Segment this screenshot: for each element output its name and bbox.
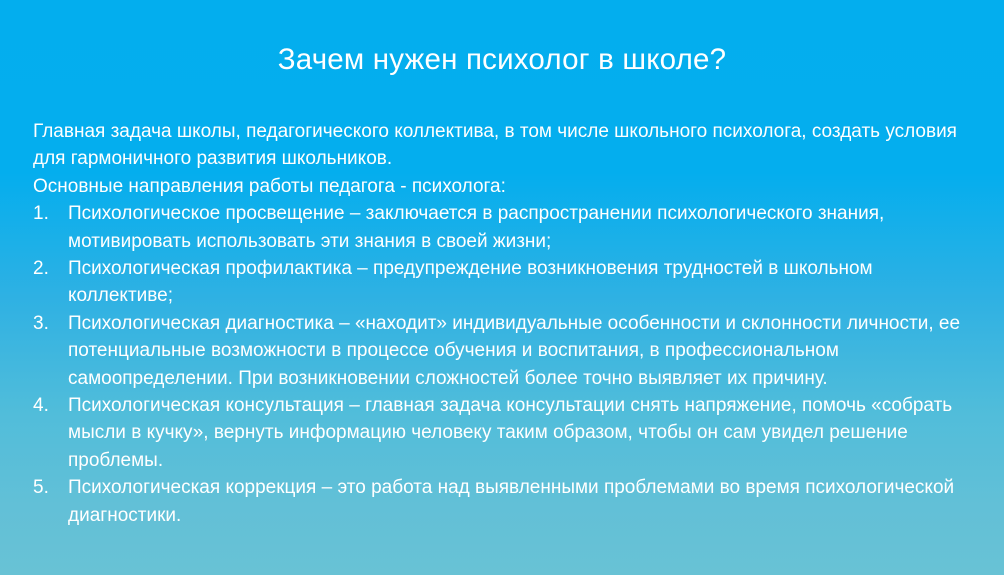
list-item-number: 1. <box>33 200 59 227</box>
list-item: 4. Психологическая консультация – главна… <box>33 392 981 474</box>
list-item-number: 4. <box>33 392 59 419</box>
list-item-number: 5. <box>33 474 59 501</box>
list-item-label: Психологическая коррекция – это работа н… <box>68 474 981 529</box>
slide-body: Главная задача школы, педагогического ко… <box>33 118 981 529</box>
list-item-number: 2. <box>33 255 59 282</box>
list-item: 1. Психологическое просвещение – заключа… <box>33 200 981 255</box>
directions-list: 1. Психологическое просвещение – заключа… <box>33 200 981 529</box>
intro-paragraph-2: Основные направления работы педагога - п… <box>33 173 981 200</box>
list-item: 3. Психологическая диагностика – «находи… <box>33 310 981 392</box>
list-item: 2. Психологическая профилактика – предуп… <box>33 255 981 310</box>
list-item: 5. Психологическая коррекция – это работ… <box>33 474 981 529</box>
intro-paragraph-1: Главная задача школы, педагогического ко… <box>33 118 981 173</box>
list-item-label: Психологическая профилактика – предупреж… <box>68 255 981 310</box>
page-title: Зачем нужен психолог в школе? <box>0 42 1004 77</box>
list-item-label: Психологическая диагностика – «находит» … <box>68 310 981 392</box>
list-item-number: 3. <box>33 310 59 337</box>
slide-canvas: Зачем нужен психолог в школе? Главная за… <box>0 0 1004 575</box>
list-item-label: Психологическая консультация – главная з… <box>68 392 981 474</box>
list-item-label: Психологическое просвещение – заключаетс… <box>68 200 981 255</box>
